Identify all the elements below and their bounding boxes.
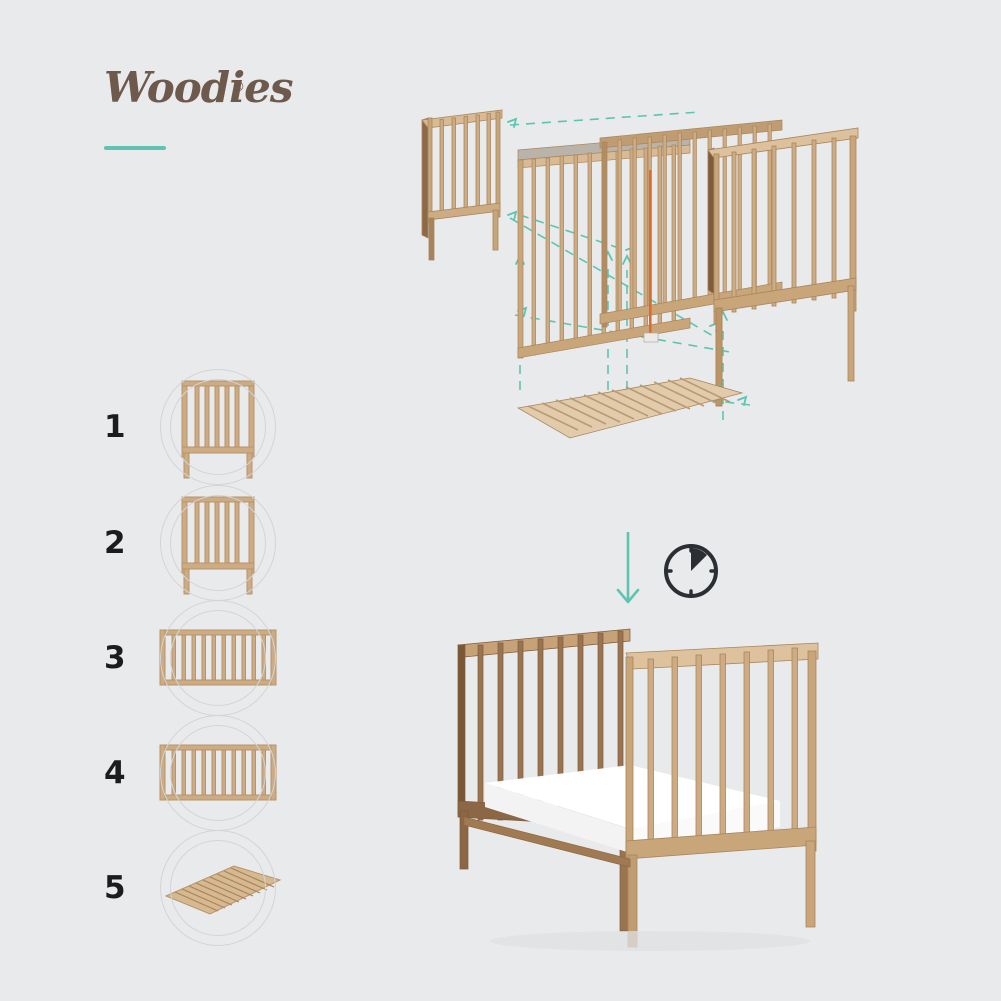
registered-trademark-icon: ® (232, 80, 245, 95)
step-number: 2 (104, 525, 125, 561)
list-item: 2 (96, 483, 296, 603)
down-arrow-icon (608, 530, 648, 610)
list-item: 1 (96, 367, 296, 487)
assembled-crib-photo (440, 615, 840, 955)
accent-stripe (649, 170, 652, 335)
step-number: 4 (104, 755, 125, 791)
instruction-sheet: Woodies ® 1 (0, 0, 1001, 1001)
end-panel-right (708, 128, 858, 406)
slat-base-icon (158, 828, 278, 948)
decorative-ring-inner (170, 725, 266, 821)
brand-logo: Woodies (104, 62, 404, 122)
end-panel-icon (158, 483, 278, 603)
step-number: 5 (104, 870, 125, 906)
step-number: 3 (104, 640, 125, 676)
list-item: 3 (96, 598, 296, 718)
side-rail-icon (158, 713, 278, 833)
step-number: 1 (104, 409, 125, 445)
brand-accent-rule (104, 146, 166, 150)
side-rail-icon (158, 598, 278, 718)
exploded-assembly-diagram (390, 90, 890, 490)
clock-icon (660, 540, 722, 602)
decorative-ring-inner (170, 840, 266, 936)
decorative-ring-inner (170, 495, 266, 591)
list-item: 5 (96, 828, 296, 948)
end-panel-icon (158, 367, 278, 487)
brand-wordmark: Woodies (104, 62, 404, 114)
decorative-ring-inner (170, 379, 266, 475)
decorative-ring-inner (170, 610, 266, 706)
bracket-detail (644, 333, 658, 342)
list-item: 4 (96, 713, 296, 833)
transition-cue (598, 522, 758, 622)
slat-base (518, 378, 742, 438)
end-panel-left (422, 110, 502, 260)
floor-shadow (490, 931, 810, 951)
